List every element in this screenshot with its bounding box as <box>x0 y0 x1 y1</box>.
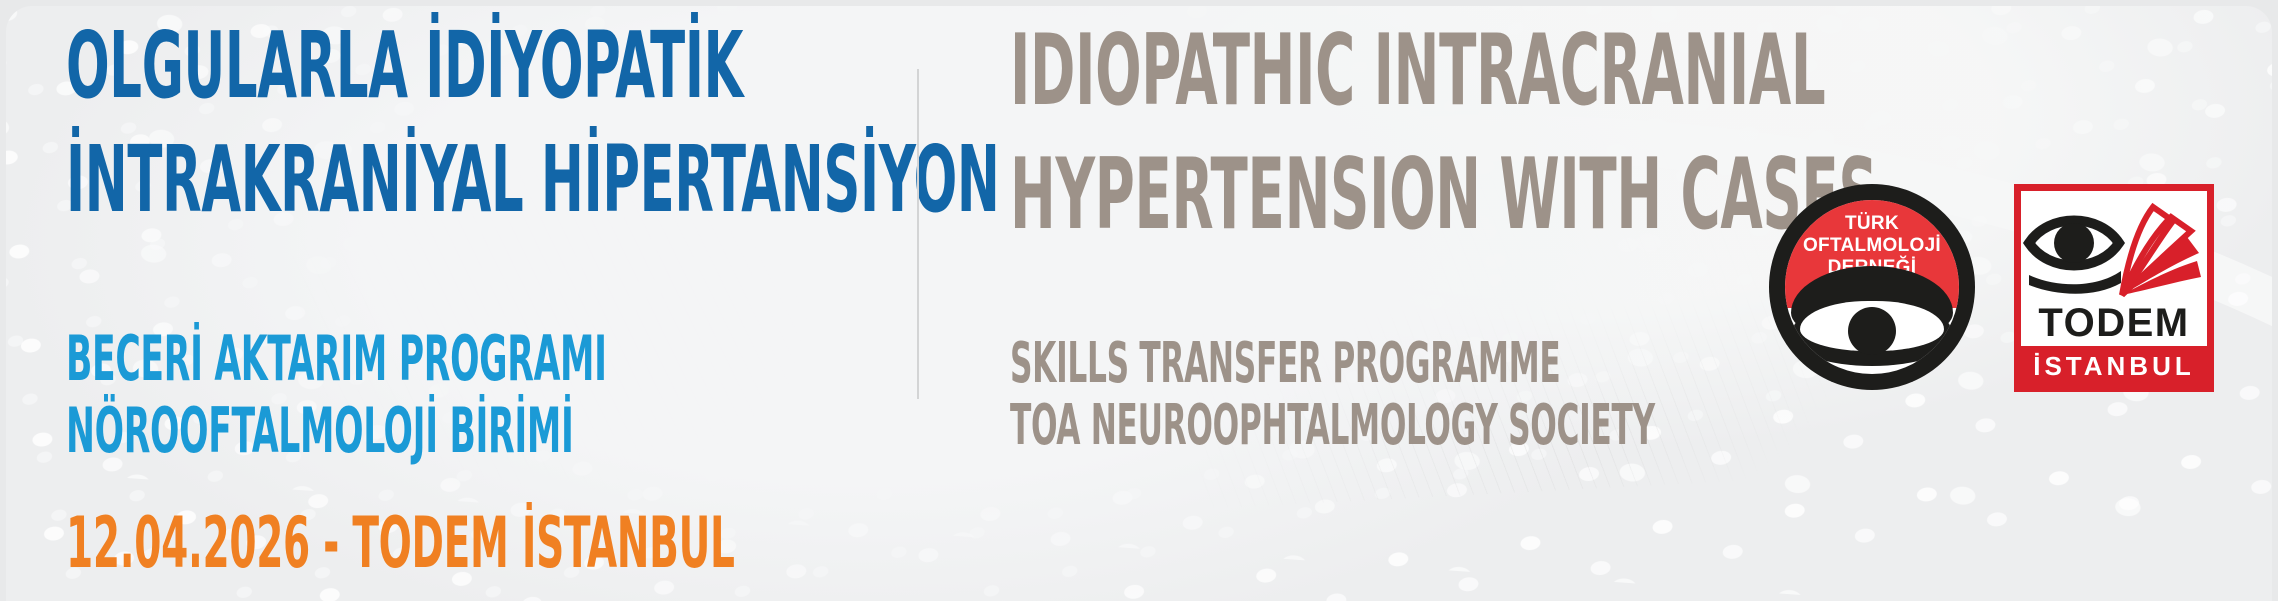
todem-istanbul-logo: TODEM İSTANBUL <box>2014 184 2214 392</box>
vertical-divider <box>917 69 919 399</box>
event-banner: OLGULARLA İDİYOPATİK İNTRAKRANİYAL HİPER… <box>6 6 2272 601</box>
english-subtitle-line-2: TOA NEUROOPHTALMOLOGY SOCIETY <box>1010 398 1655 454</box>
turkish-subtitle-line-2: NÖROOFTALMOLOJİ BİRİMİ <box>66 400 607 462</box>
todem-logo-city-label: İSTANBUL <box>2033 351 2195 382</box>
english-title-line-2: HYPERTENSION WITH CASES <box>1010 146 1877 244</box>
tod-logo-eye-sclera <box>1800 301 1944 351</box>
todem-logo-eye-and-book-icon <box>2021 191 2207 309</box>
todem-logo-city-band: İSTANBUL <box>2020 346 2208 386</box>
tod-logo-line-2: OFTALMOLOJİ <box>1785 236 1959 255</box>
event-date-location: 12.04.2026 - TODEM İSTANBUL <box>66 508 1144 578</box>
event-date-location-text: 12.04.2026 - TODEM İSTANBUL <box>66 508 735 578</box>
todem-logo-wordmark: TODEM <box>2021 303 2207 343</box>
banner-stage: OLGULARLA İDİYOPATİK İNTRAKRANİYAL HİPER… <box>0 0 2278 601</box>
tod-logo-inner: TÜRK OFTALMOLOJİ DERNEĞİ 1928 <box>1785 200 1959 374</box>
turkish-title-line-1: OLGULARLA İDİYOPATİK <box>66 20 1000 112</box>
tod-logo-eye-icon <box>1791 292 1953 366</box>
english-subtitle-line-1: SKILLS TRANSFER PROGRAMME <box>1010 336 1655 392</box>
turkish-title-line-2: İNTRAKRANİYAL HİPERTANSİYON <box>66 134 1000 226</box>
turkish-subtitle-line-1: BECERİ AKTARIM PROGRAMI <box>66 328 607 390</box>
tod-logo-line-1: TÜRK <box>1785 214 1959 233</box>
tod-logo-eye-pupil <box>1848 307 1896 355</box>
turkish-subtitle: BECERİ AKTARIM PROGRAMI NÖROOFTALMOLOJİ … <box>66 328 938 462</box>
english-title-line-1: IDIOPATHIC INTRACRANIAL <box>1010 22 1877 120</box>
turk-oftalmoloji-dernegi-logo: TÜRK OFTALMOLOJİ DERNEĞİ 1928 <box>1769 184 1975 390</box>
